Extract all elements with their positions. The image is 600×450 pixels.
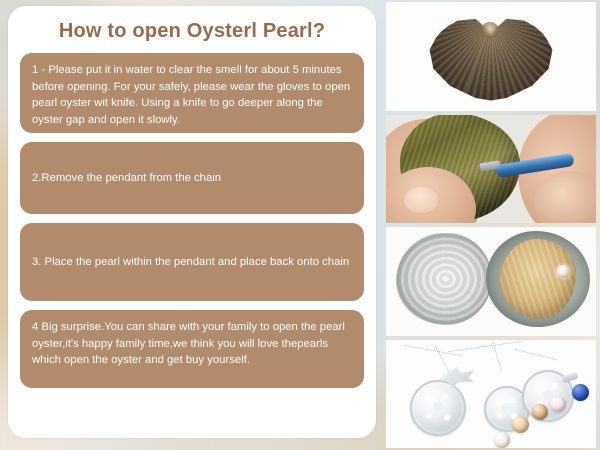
oyster-shell-graphic	[427, 15, 555, 101]
instructions-card: How to open Oysterl Pearl? 1 - Please pu…	[8, 6, 376, 438]
page-title: How to open Oysterl Pearl?	[8, 6, 376, 53]
step-item: 3. Place the pearl within the pendant an…	[20, 223, 364, 301]
step-text: 2.Remove the pendant from the chain	[32, 170, 221, 187]
step-item: 1 - Please put it in water to clear the …	[20, 53, 364, 133]
step-item: 4 Big surprise.You can share with your f…	[20, 310, 364, 388]
cage-pendant	[410, 380, 466, 436]
step-text: 4 Big surprise.You can share with your f…	[32, 319, 352, 369]
photo-column	[386, 2, 596, 448]
pearl-bronze	[532, 404, 548, 420]
step-item: 2.Remove the pendant from the chain	[20, 142, 364, 214]
photo-opened-oyster-with-pearl	[386, 227, 596, 336]
steps-list: 1 - Please put it in water to clear the …	[8, 53, 376, 388]
oyster-left-valve	[396, 233, 492, 325]
shell-umbo	[481, 22, 499, 38]
thumb-nail	[404, 187, 438, 213]
photo-closed-oyster-shell	[386, 2, 596, 111]
step-text: 3. Place the pearl within the pendant an…	[32, 254, 349, 271]
photo-cage-pendants-and-pearls	[386, 340, 596, 449]
step-text: 1 - Please put it in water to clear the …	[32, 62, 352, 128]
pearl-blue	[572, 384, 589, 401]
nacre-rings	[396, 233, 492, 325]
pearl-white	[494, 432, 510, 448]
poster-root: How to open Oysterl Pearl? 1 - Please pu…	[0, 0, 600, 450]
photo-hands-opening-oyster-with-knife	[386, 115, 596, 224]
oyster-meat	[500, 239, 576, 319]
pearl	[557, 265, 570, 278]
oyster-meat-folds	[500, 239, 576, 319]
pearl-gold	[512, 416, 529, 433]
pearl-pink	[550, 396, 566, 412]
